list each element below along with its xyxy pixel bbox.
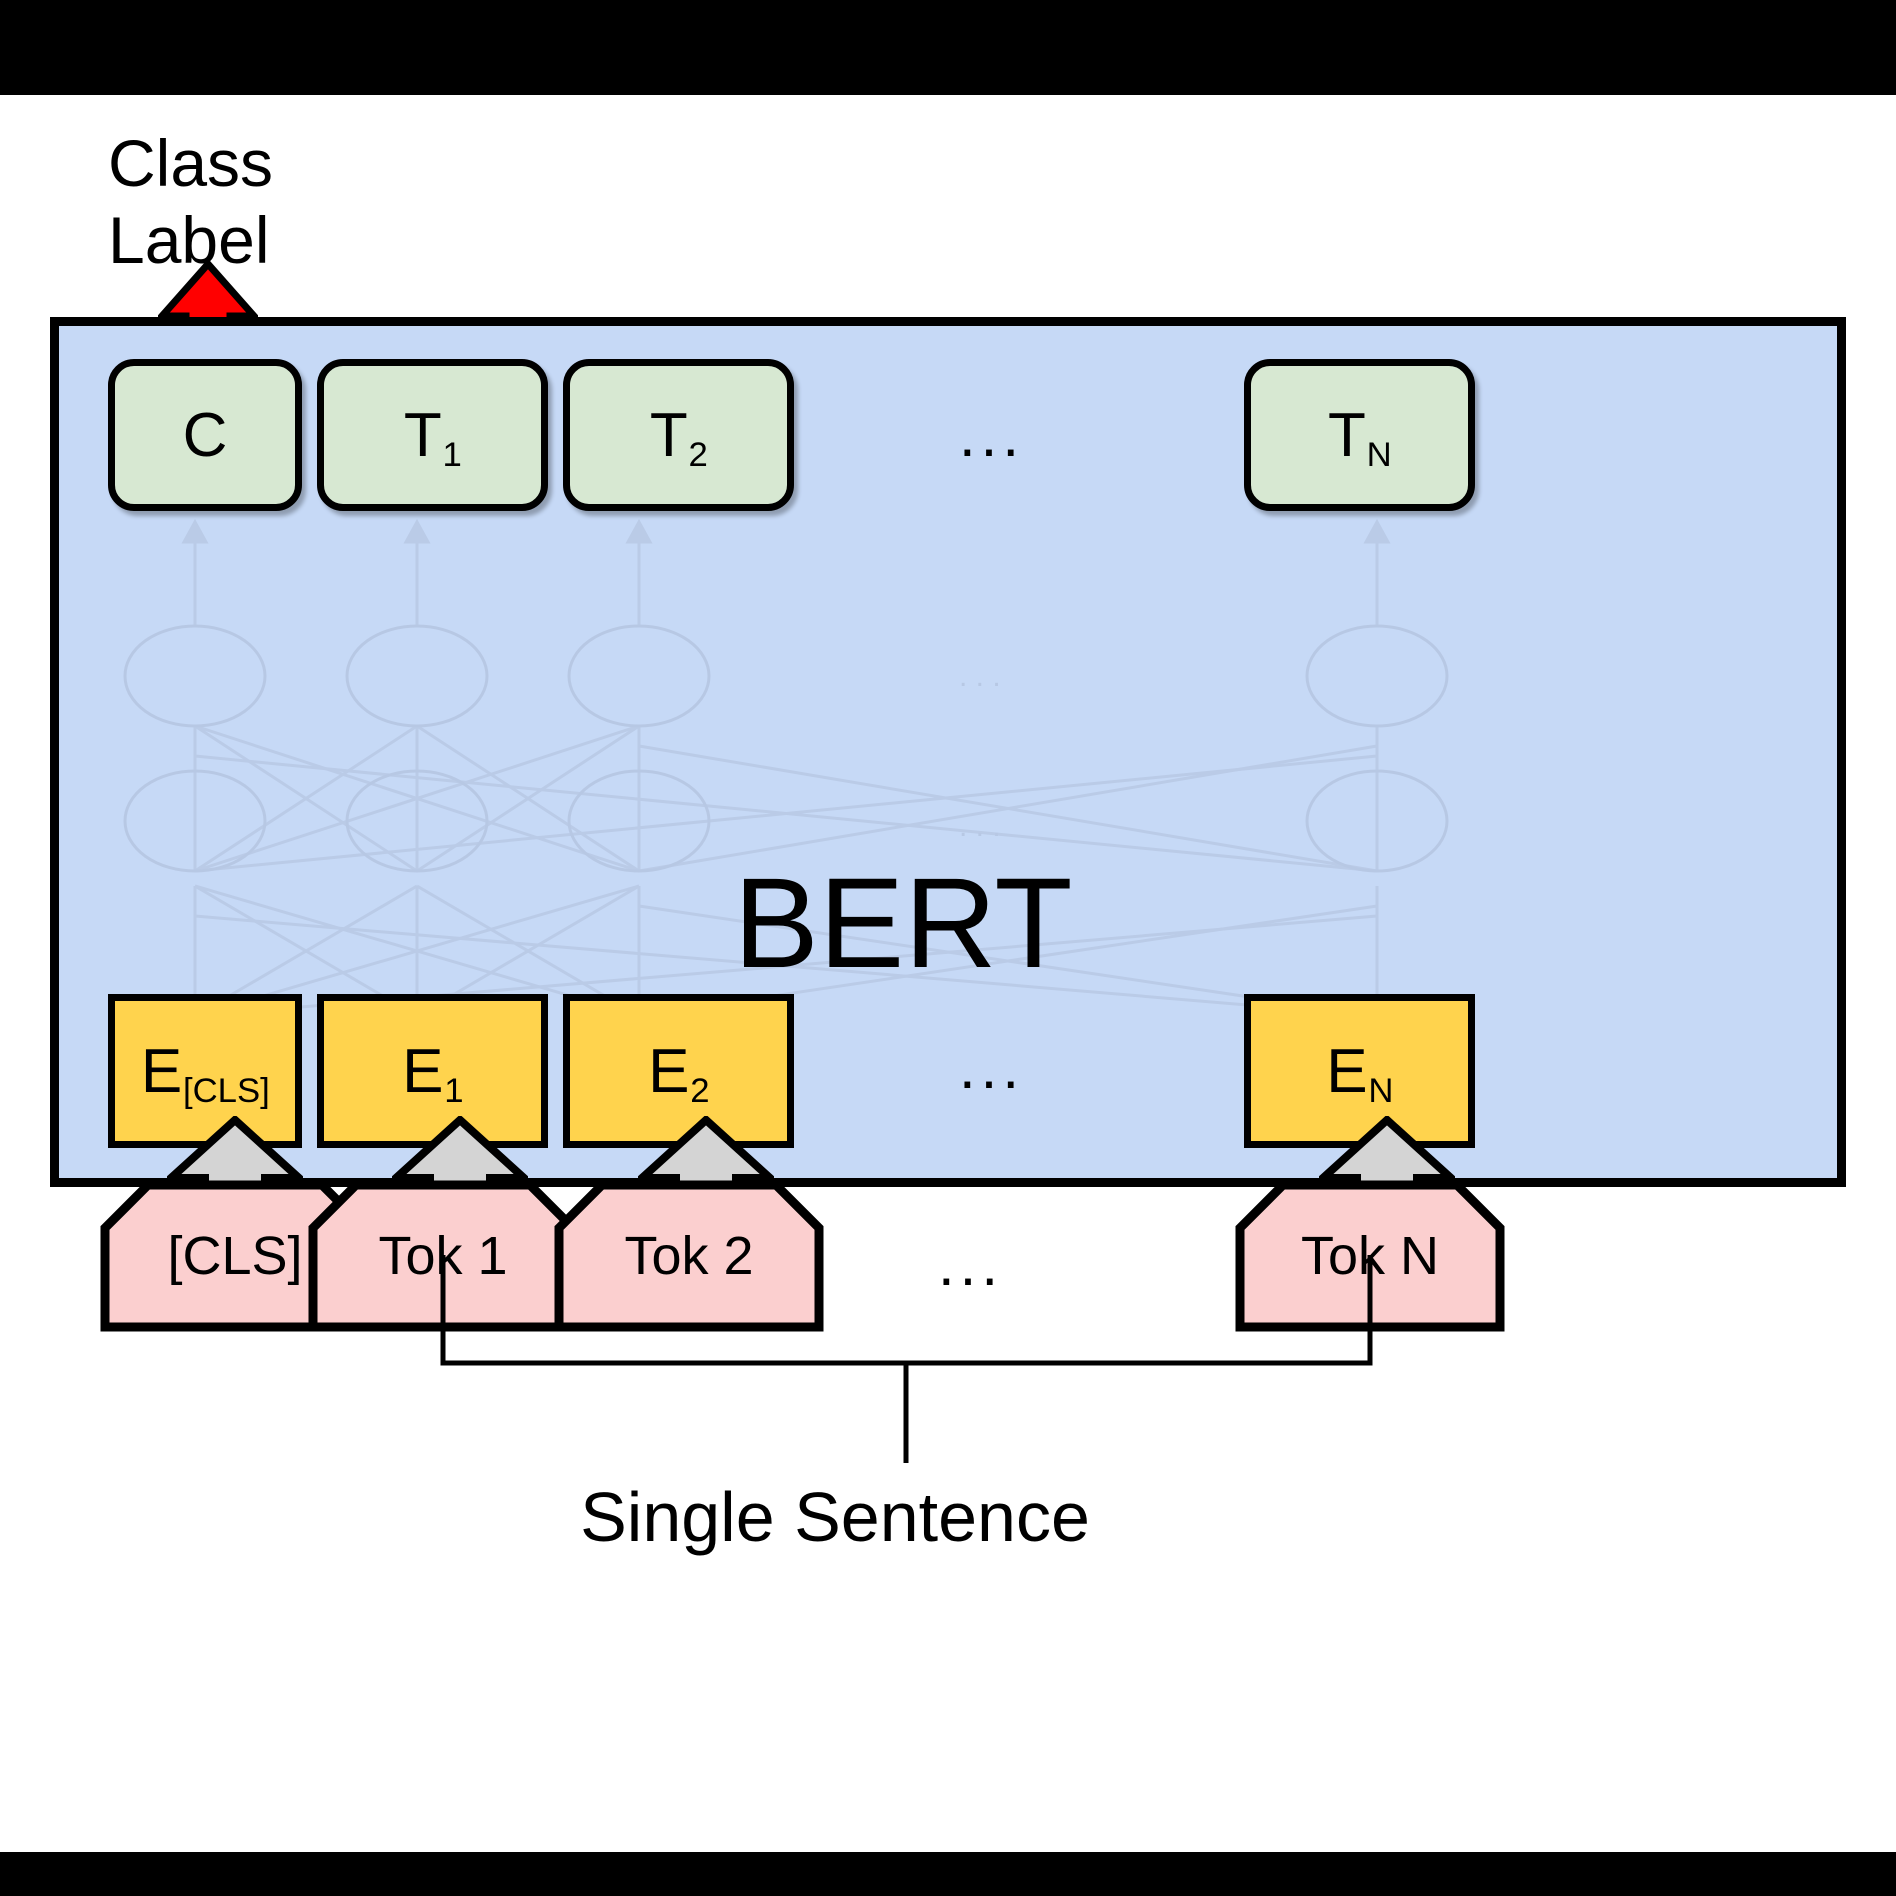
figure-area: Class Label: [0, 95, 1896, 1852]
letterbox-bottom: [0, 1852, 1896, 1896]
bert-model-panel: . . . . . . BERT C T1 T2 TN ...: [50, 317, 1846, 1187]
output-token-t2-label: T2: [650, 400, 707, 471]
class-label-text: Class Label: [108, 125, 273, 278]
output-token-tn: TN: [1244, 359, 1475, 511]
single-sentence-text: Single Sentence: [580, 1478, 1090, 1556]
embedding-e-cls-label: E[CLS]: [141, 1036, 269, 1107]
sentence-bracket: [0, 1255, 1896, 1495]
output-token-t1: T1: [317, 359, 548, 511]
svg-text:. . .: . . .: [959, 660, 1001, 693]
output-token-t2: T2: [563, 359, 794, 511]
output-token-c-label: C: [183, 400, 228, 471]
embedding-e1-label: E1: [402, 1036, 463, 1107]
output-token-ellipsis: ...: [959, 406, 1024, 466]
diagram-canvas: Class Label: [0, 0, 1896, 1896]
letterbox-top: [0, 0, 1896, 95]
embedding-ellipsis: ...: [959, 1038, 1024, 1098]
single-sentence-label: Single Sentence: [0, 1477, 1896, 1557]
output-token-c: C: [108, 359, 302, 511]
output-token-tn-label: TN: [1328, 400, 1391, 471]
svg-text:. . .: . . .: [959, 810, 1001, 843]
output-token-t1-label: T1: [404, 400, 461, 471]
embedding-e2-label: E2: [648, 1036, 709, 1107]
embedding-en-label: EN: [1326, 1036, 1392, 1107]
